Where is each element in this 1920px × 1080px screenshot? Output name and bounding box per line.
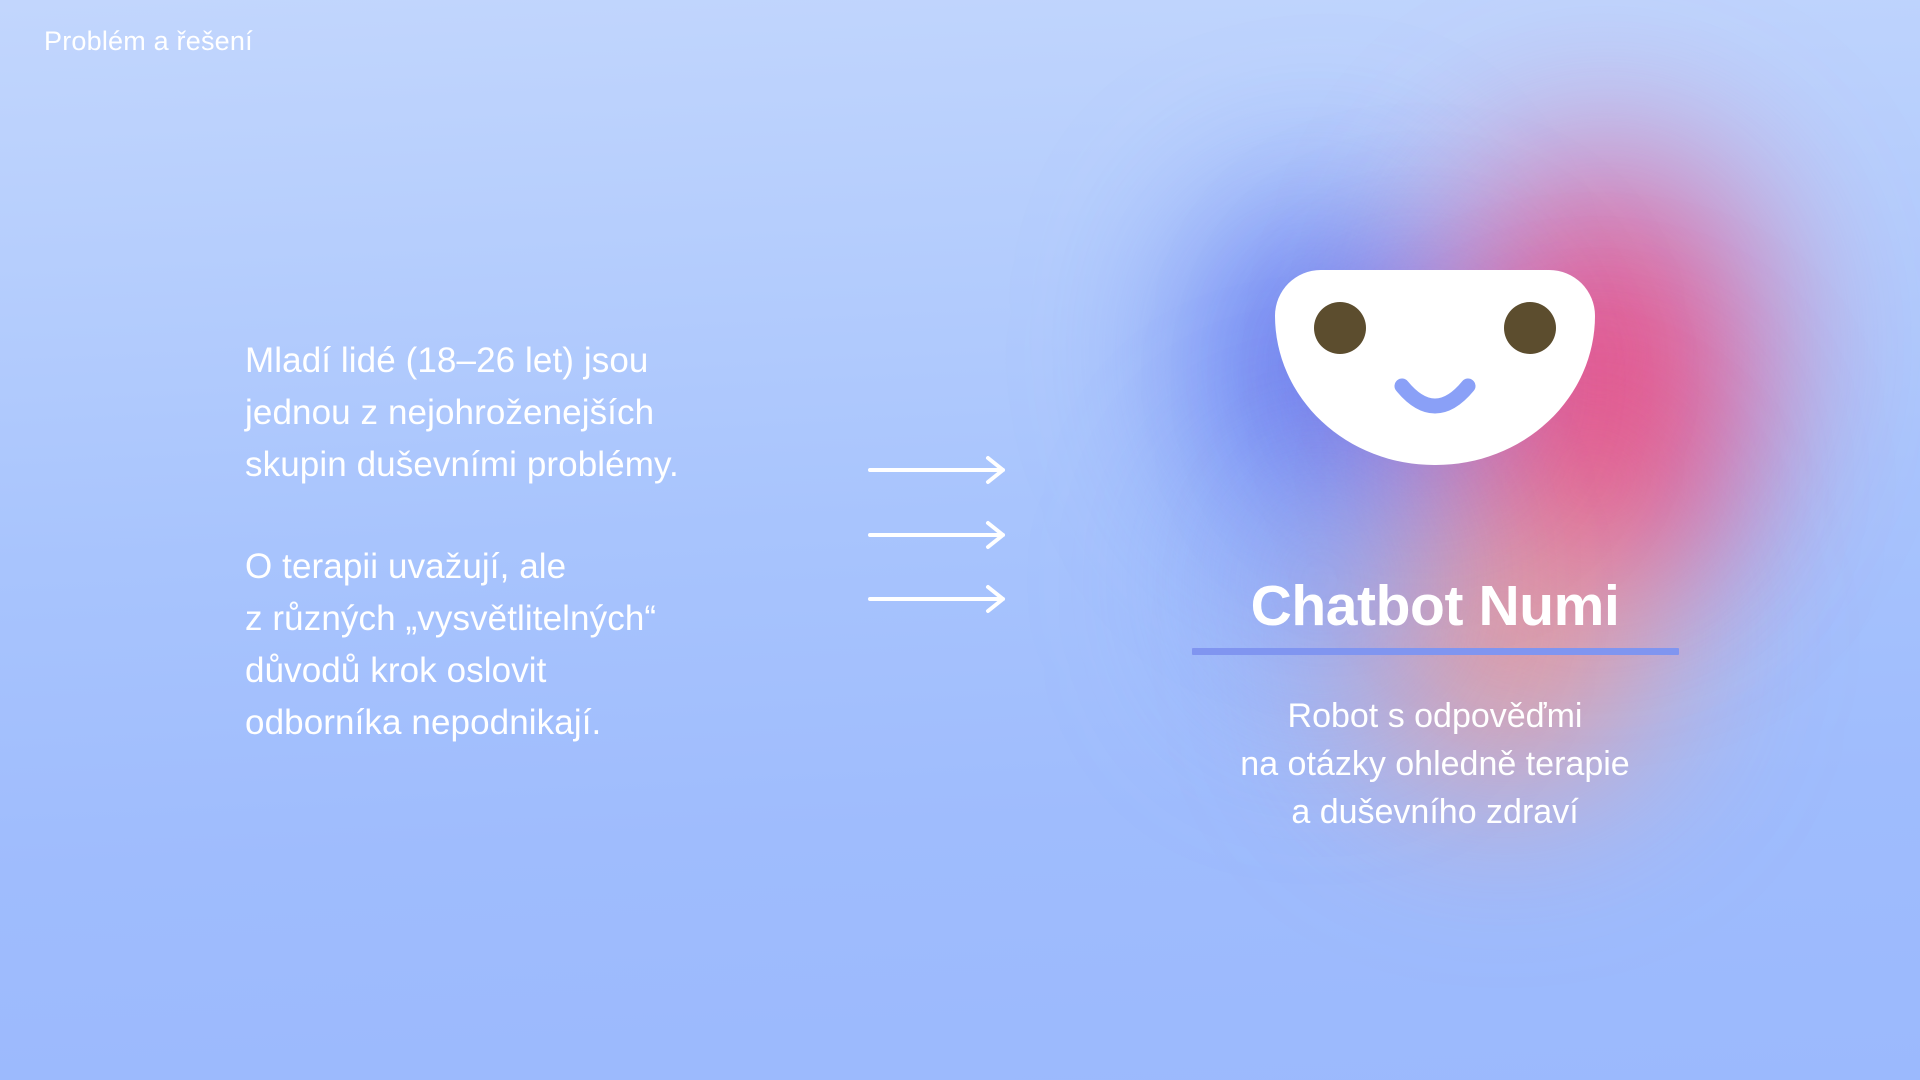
robot-name-heading: Chatbot Numi	[1135, 577, 1735, 637]
problem-line: skupin duševními problémy.	[245, 439, 825, 491]
robot-avatar	[1275, 270, 1595, 465]
arrow-group	[868, 455, 1018, 615]
arrow-right-icon	[868, 455, 1018, 485]
arrow-right-icon	[868, 520, 1018, 550]
robot-caption-line: na otázky ohledně terapie	[1135, 740, 1735, 788]
problem-paragraph-2: O terapii uvažují, ale z různých „vysvět…	[245, 541, 825, 749]
robot-eye-left-icon	[1314, 302, 1366, 354]
robot-smile-icon	[1394, 378, 1476, 422]
robot-caption: Robot s odpověďmi na otázky ohledně tera…	[1135, 692, 1735, 836]
robot-eye-right-icon	[1504, 302, 1556, 354]
problem-text-column: Mladí lidé (18–26 let) jsou jednou z nej…	[245, 335, 825, 749]
slide-title: Problém a řešení	[44, 26, 253, 57]
robot-face-shape	[1275, 270, 1595, 465]
problem-line: důvodů krok oslovit	[245, 645, 825, 697]
slide-canvas: Problém a řešení Mladí lidé (18–26 let) …	[0, 0, 1920, 1080]
robot-caption-line: a duševního zdraví	[1135, 788, 1735, 836]
problem-line: z různých „vysvětlitelných“	[245, 593, 825, 645]
problem-line: odborníka nepodnikají.	[245, 697, 825, 749]
problem-line: jednou z nejohroženejších	[245, 387, 825, 439]
problem-line: O terapii uvažují, ale	[245, 541, 825, 593]
arrow-right-icon	[868, 584, 1018, 614]
problem-line: Mladí lidé (18–26 let) jsou	[245, 335, 825, 387]
robot-card: Chatbot Numi Robot s odpověďmi na otázky…	[1135, 270, 1735, 836]
robot-caption-line: Robot s odpověďmi	[1135, 692, 1735, 740]
problem-paragraph-1: Mladí lidé (18–26 let) jsou jednou z nej…	[245, 335, 825, 491]
robot-name-underline	[1192, 648, 1679, 655]
